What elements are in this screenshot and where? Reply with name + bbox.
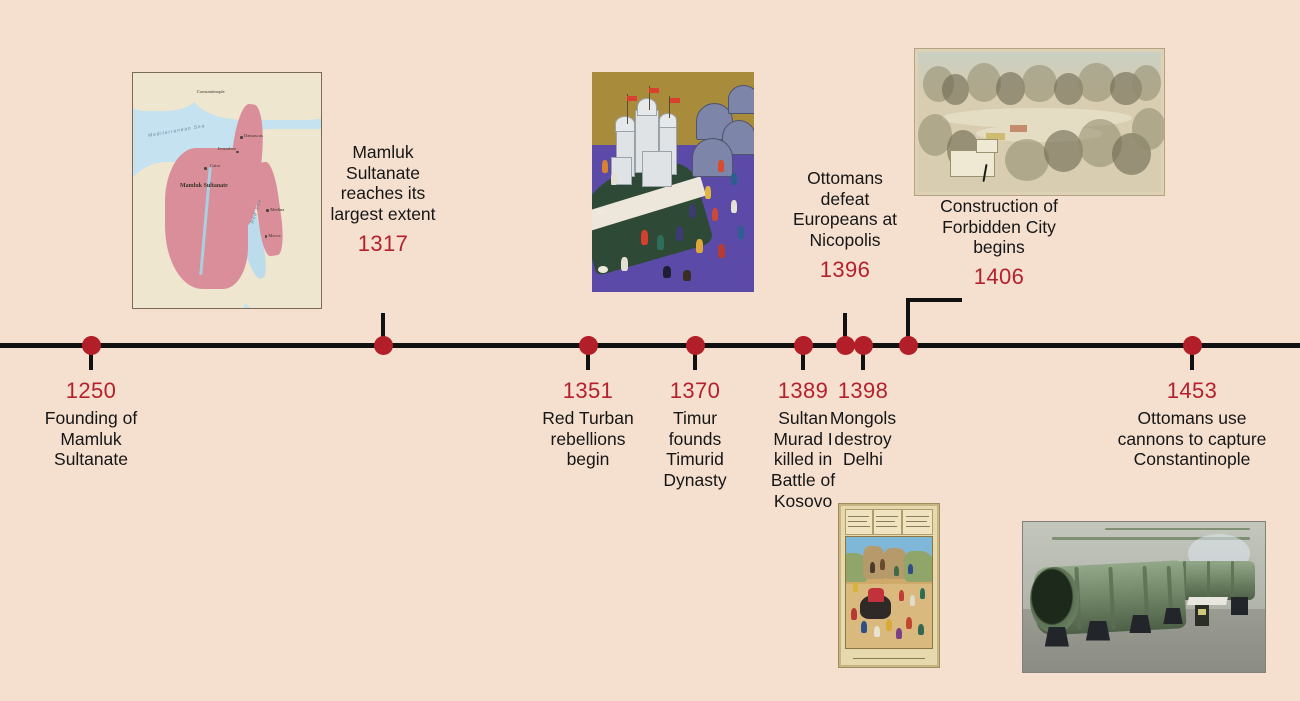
map-label-damascus: Damascus — [244, 133, 263, 138]
timeline-marker-dot[interactable] — [1183, 336, 1202, 355]
timeline-marker-dot[interactable] — [579, 336, 598, 355]
event-caption: Mamluk Sultanate reaches its largest ext… — [330, 142, 436, 225]
event-year: 1250 — [6, 378, 176, 404]
event-year: 1351 — [528, 378, 648, 404]
event-year: 1406 — [928, 264, 1070, 290]
map-label-medina: Medina — [270, 207, 284, 212]
timeline-marker-dot[interactable] — [836, 336, 855, 355]
timeline-axis — [0, 343, 1300, 348]
event-year: 1396 — [765, 257, 925, 283]
timeline-label-1250: 1250 Founding of Mamluk Sultanate — [6, 378, 176, 470]
map-label-jerusalem: Jerusalem — [218, 146, 236, 151]
timeline-infographic: Mediterranean Sea Red Sea Mamluk Sultana… — [0, 0, 1300, 701]
timeline-marker-dot[interactable] — [686, 336, 705, 355]
timeline-label-1370: 1370 Timur founds Timurid Dynasty — [637, 378, 753, 491]
event-caption: Red Turban rebellions begin — [542, 408, 634, 470]
event-caption: Ottomans defeat Europeans at Nicopolis — [781, 168, 909, 251]
event-caption: Mongols destroy Delhi — [821, 408, 905, 470]
timeline-label-1398: 1398 Mongols destroy Delhi — [803, 378, 923, 470]
image-mamluk-map: Mediterranean Sea Red Sea Mamluk Sultana… — [132, 72, 322, 309]
image-dardanelles-cannon — [1022, 521, 1266, 673]
event-year: 1370 — [637, 378, 753, 404]
event-year: 1317 — [301, 231, 465, 257]
map-label-constantinople: Constantinople — [197, 89, 225, 94]
timeline-marker-dot[interactable] — [899, 336, 918, 355]
image-delhi-miniature — [838, 503, 940, 668]
event-caption: Construction of Forbidden City begins — [933, 196, 1065, 258]
map-label-mecca: Mecca — [268, 233, 280, 238]
timeline-label-1317: Mamluk Sultanate reaches its largest ext… — [301, 142, 465, 257]
timeline-label-1406: Construction of Forbidden City begins 14… — [928, 196, 1070, 290]
timeline-label-1396: Ottomans defeat Europeans at Nicopolis 1… — [765, 168, 925, 283]
map-label-cairo: Cairo — [210, 163, 220, 168]
timeline-marker-dot[interactable] — [794, 336, 813, 355]
timeline-marker-dot[interactable] — [82, 336, 101, 355]
event-caption: Founding of Mamluk Sultanate — [36, 408, 146, 470]
event-caption: Ottomans use cannons to capture Constant… — [1117, 408, 1267, 470]
timeline-label-1351: 1351 Red Turban rebellions begin — [528, 378, 648, 470]
timeline-marker-dot[interactable] — [374, 336, 393, 355]
image-nicopolis-miniature — [592, 72, 754, 292]
event-caption: Timur founds Timurid Dynasty — [654, 408, 736, 491]
map-label-region: Mamluk Sultanate — [180, 183, 228, 189]
event-year: 1398 — [803, 378, 923, 404]
timeline-label-1453: 1453 Ottomans use cannons to capture Con… — [1097, 378, 1287, 470]
event-year: 1453 — [1097, 378, 1287, 404]
image-forbidden-city-scroll — [914, 48, 1165, 196]
timeline-marker-dot[interactable] — [854, 336, 873, 355]
